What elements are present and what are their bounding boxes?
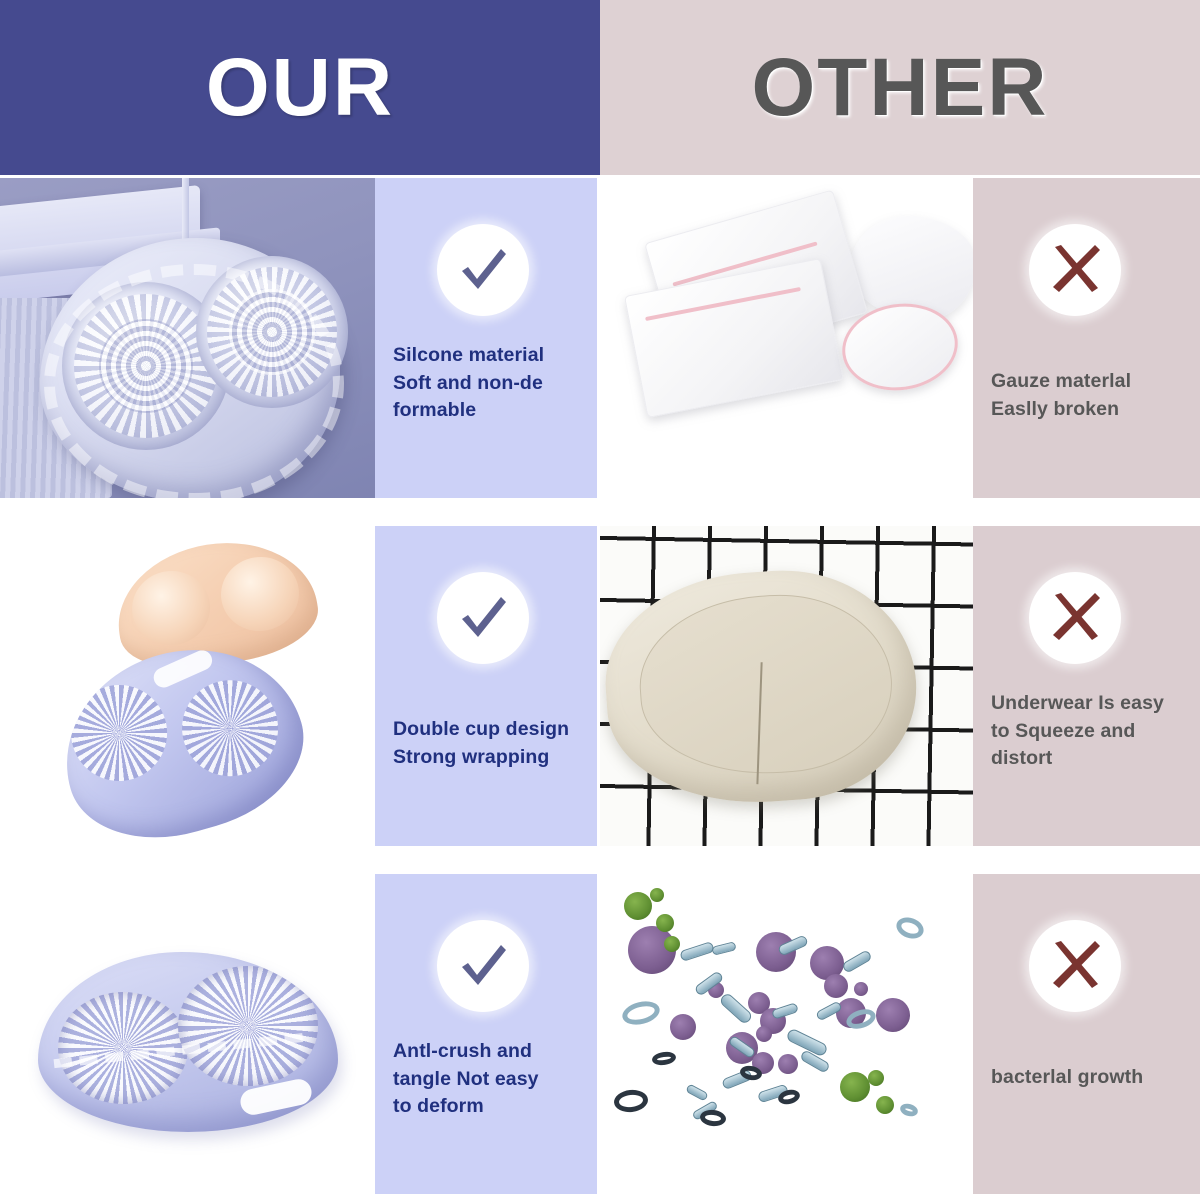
row3-other-panel: bacterlal growth xyxy=(600,874,1200,1194)
cross-icon xyxy=(1029,572,1121,664)
cross-icon xyxy=(1029,224,1121,316)
row3-other-photo xyxy=(600,874,973,1194)
row1-our-caption-text: Silcone material Soft and non-de formabl… xyxy=(393,342,544,425)
check-icon xyxy=(437,920,529,1012)
check-icon xyxy=(437,572,529,664)
row2-other-caption-text: Underwear Is easy to Squeeze and distort xyxy=(991,690,1164,773)
comparison-row: Antl-crush and tangle Not easy to deform xyxy=(0,874,1200,1194)
comparison-infographic: OUR OTHER xyxy=(0,0,1200,1200)
row1-other-panel: Gauze materlal Easlly broken xyxy=(600,178,1200,498)
row1-our-photo xyxy=(0,178,375,498)
row3-other-caption-panel: bacterlal growth xyxy=(973,874,1200,1194)
row2-our-caption-text: Double cup design Strong wrapping xyxy=(393,716,569,771)
check-icon xyxy=(437,224,529,316)
row1-our-panel: Silcone material Soft and non-de formabl… xyxy=(0,178,597,498)
row1-our-caption-panel: Silcone material Soft and non-de formabl… xyxy=(375,178,597,498)
row3-our-caption-panel: Antl-crush and tangle Not easy to deform xyxy=(375,874,597,1194)
row1-other-caption-text: Gauze materlal Easlly broken xyxy=(991,368,1131,423)
row2-other-photo xyxy=(600,526,973,846)
header-our-title: OUR xyxy=(206,47,394,129)
row2-our-panel: Double cup design Strong wrapping xyxy=(0,526,597,846)
comparison-row: Silcone material Soft and non-de formabl… xyxy=(0,178,1200,498)
row3-our-panel: Antl-crush and tangle Not easy to deform xyxy=(0,874,597,1194)
row2-other-panel: Underwear Is easy to Squeeze and distort xyxy=(600,526,1200,846)
row1-other-photo xyxy=(600,178,973,498)
row2-other-caption-panel: Underwear Is easy to Squeeze and distort xyxy=(973,526,1200,846)
row3-our-caption-text: Antl-crush and tangle Not easy to deform xyxy=(393,1038,539,1121)
row1-other-caption-panel: Gauze materlal Easlly broken xyxy=(973,178,1200,498)
row2-our-caption-panel: Double cup design Strong wrapping xyxy=(375,526,597,846)
comparison-rows: Silcone material Soft and non-de formabl… xyxy=(0,178,1200,1200)
row3-other-caption-text: bacterlal growth xyxy=(991,1064,1143,1092)
header-bar: OUR OTHER xyxy=(0,0,1200,175)
row3-our-photo xyxy=(0,874,375,1194)
row2-our-photo xyxy=(0,526,375,846)
comparison-row: Double cup design Strong wrapping xyxy=(0,526,1200,846)
header-other-title: OTHER xyxy=(752,47,1049,129)
header-our-cell: OUR xyxy=(0,0,600,175)
cross-icon xyxy=(1029,920,1121,1012)
header-other-cell: OTHER xyxy=(600,0,1200,175)
